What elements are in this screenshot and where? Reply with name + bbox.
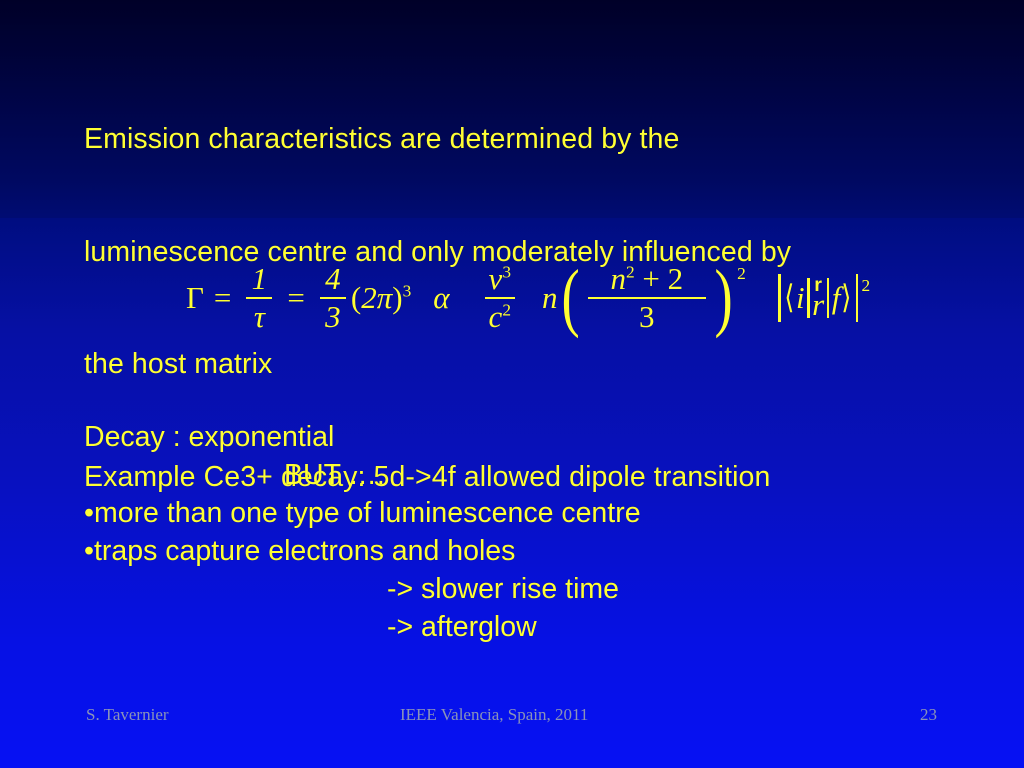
four-thirds-fraction: 4 3	[320, 262, 346, 334]
c-denominator: c2	[485, 300, 515, 334]
n-squared-plus-two-over-three: n2 + 2 3	[588, 262, 706, 334]
equation-equals-2: =	[287, 280, 304, 316]
body-line-slower-rise-time: -> slower rise time	[84, 570, 984, 608]
local-field-exponent: 2	[737, 264, 746, 284]
bra-angle: ⟨	[785, 278, 795, 317]
presentation-slide: Emission characteristics are determined …	[0, 0, 1024, 768]
bullet-item-multiple-centres: •more than one type of luminescence cent…	[84, 494, 984, 532]
coefficient-denominator: 3	[321, 300, 345, 334]
abs-bar-left	[778, 274, 781, 321]
coefficient-numerator: 4	[321, 262, 345, 296]
local-field-denominator: 3	[635, 300, 659, 334]
equation-equals-1: =	[214, 280, 231, 316]
body-line-afterglow: -> afterglow	[84, 608, 984, 646]
big-paren-close: )	[714, 268, 732, 327]
footer-conference: IEEE Valencia, Spain, 2011	[400, 705, 588, 725]
local-field-factor: ( n2 + 2 3 ) 2	[558, 262, 746, 334]
paren-open: (	[351, 280, 361, 315]
nu-cubed-over-c-squared-fraction: ν3 c2	[485, 262, 515, 334]
tau-denominator: τ	[250, 300, 269, 334]
paren-close: )	[392, 280, 402, 315]
tau-numerator: 1	[248, 262, 272, 296]
matrix-element-exponent: 2	[862, 276, 871, 296]
bra-ket-bar-left	[807, 278, 810, 318]
slide-footer: S. Tavernier IEEE Valencia, Spain, 2011 …	[0, 700, 1024, 734]
big-paren-open: (	[561, 268, 579, 327]
body-line-but: BUT ….	[84, 456, 984, 494]
title-line-1: Emission characteristics are determined …	[84, 121, 974, 159]
position-operator-r: r	[812, 292, 824, 319]
nu-numerator: ν3	[485, 262, 515, 296]
one-over-tau-fraction: 1 τ	[246, 262, 272, 334]
decay-rate-equation: Γ = 1 τ = 4 3 (2π)3 α ν3 c2 n (	[186, 248, 870, 348]
final-state-f: f	[832, 280, 841, 316]
footer-page-number: 23	[920, 705, 937, 725]
position-operator-vector: r r	[812, 277, 824, 319]
bra-ket-bar-right	[827, 278, 830, 318]
refractive-index-n: n	[542, 280, 558, 316]
two-pi: 2π	[361, 280, 392, 315]
abs-bar-right	[856, 274, 859, 321]
transition-matrix-element: ⟨ i r r f ⟩ 2	[776, 274, 870, 321]
ket-angle: ⟩	[842, 278, 852, 317]
alpha-symbol: α	[433, 280, 449, 316]
two-pi-term: (2π)3	[351, 280, 411, 316]
body-line-decay: Decay : exponential	[84, 418, 984, 456]
local-field-numerator: n2 + 2	[606, 262, 687, 296]
initial-state-i: i	[796, 280, 805, 316]
two-pi-exponent: 3	[403, 282, 412, 301]
slide-body: Decay : exponential BUT …. •more than on…	[84, 418, 984, 646]
bullet-item-traps: •traps capture electrons and holes	[84, 532, 984, 570]
footer-author: S. Tavernier	[86, 705, 169, 725]
title-line-3: the host matrix	[84, 346, 974, 384]
equation-gamma: Γ	[186, 280, 204, 316]
